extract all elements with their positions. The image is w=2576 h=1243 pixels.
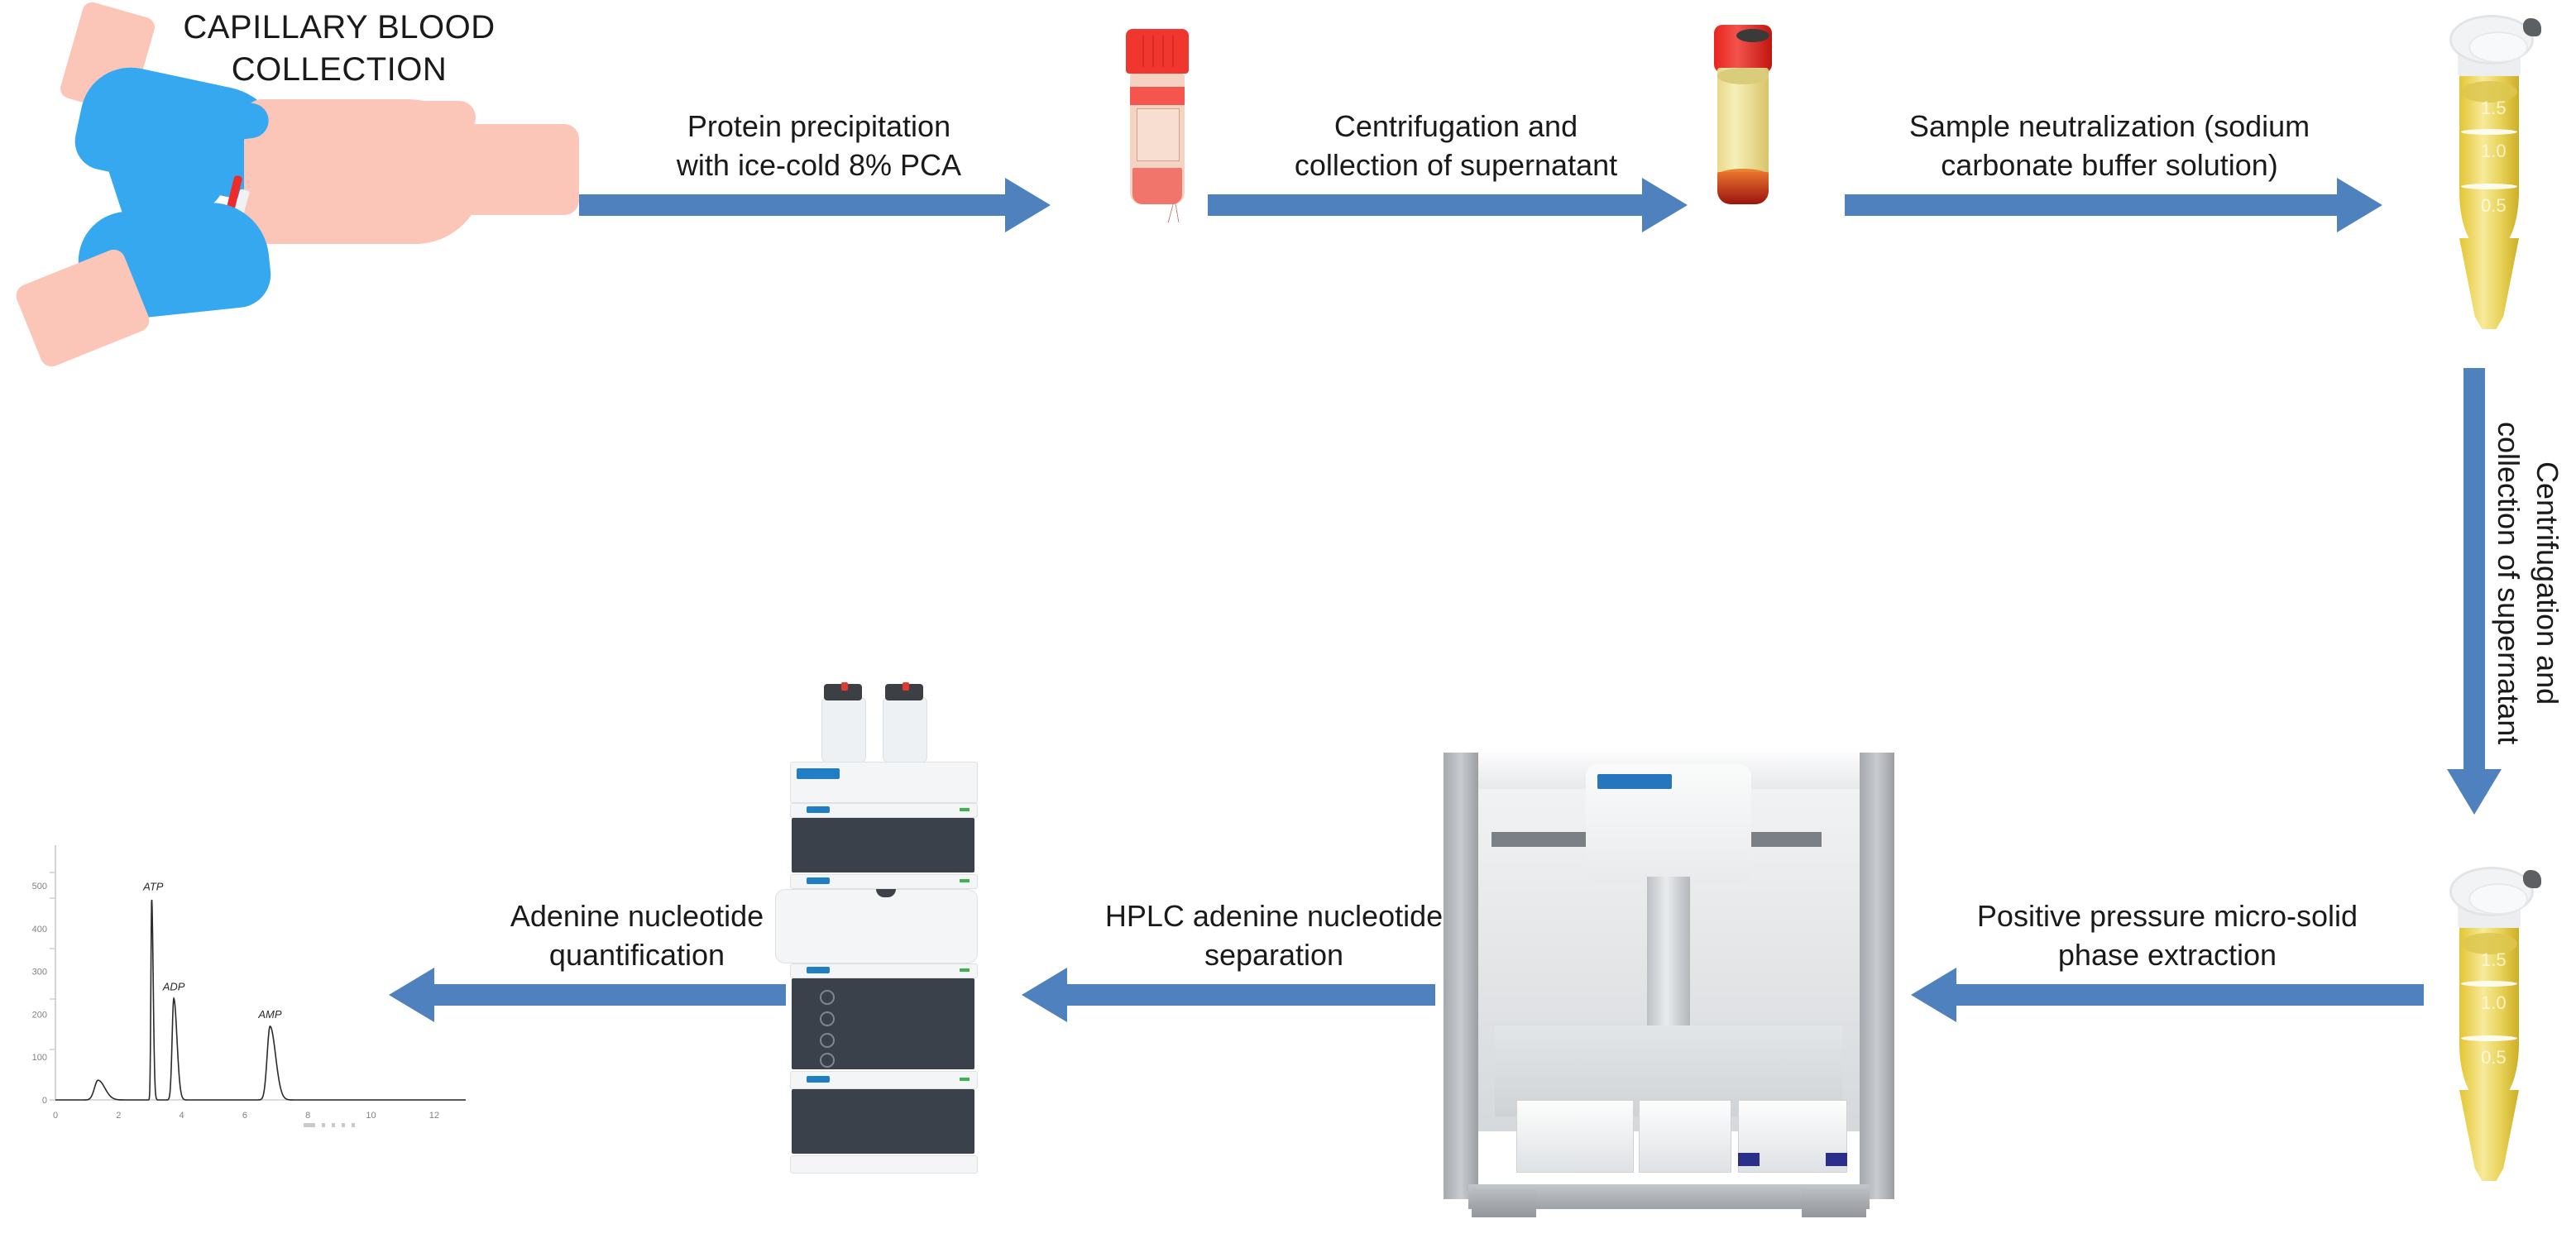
- capillary-blood-collection-illustration: [8, 0, 571, 380]
- tube-lid: [2449, 867, 2534, 916]
- arrow-protein-precipitation: [579, 178, 1051, 232]
- hplc-module-bottom-trim: [790, 1155, 978, 1174]
- step-label-hplc-separation: HPLC adenine nucleotide separation: [1026, 897, 1522, 975]
- svg-text:100: 100: [32, 1053, 47, 1063]
- eppendorf-tube-neutralized: 1.5 1.0 0.5: [2444, 8, 2544, 339]
- graduation-label-05: 0.5: [2481, 1047, 2507, 1069]
- oven-dial-4[interactable]: [820, 1053, 835, 1068]
- svg-text:AMP: AMP: [257, 1008, 282, 1021]
- svg-text:12: 12: [429, 1111, 439, 1121]
- svg-text:2: 2: [116, 1111, 121, 1121]
- graduation-mark-2: [2461, 1035, 2517, 1041]
- solvent-bottle-left: [821, 697, 866, 763]
- tube-cone: [2459, 1090, 2519, 1181]
- eppendorf-tube-supernatant: 1.5 1.0 0.5: [2444, 860, 2544, 1191]
- blood-collection-tube: [1121, 29, 1195, 207]
- sample-plate-center: [1639, 1100, 1731, 1173]
- svg-text:8: 8: [305, 1111, 310, 1121]
- bottle-valve-left: [841, 682, 848, 691]
- tube-cone: [2459, 238, 2519, 329]
- hplc-badge-3: [807, 877, 830, 884]
- svg-text:4: 4: [180, 1111, 184, 1121]
- svg-text:6: 6: [242, 1111, 247, 1121]
- arrow-positive-pressure-spe: [1911, 968, 2424, 1022]
- sample-plate-left: [1516, 1100, 1634, 1173]
- hplc-chromatogram: 0100200300400500 024681012 ATPADPAMP: [12, 835, 476, 1141]
- chromatogram-plot: 0100200300400500 024681012 ATPADPAMP: [12, 835, 476, 1141]
- graduation-label-10: 1.0: [2481, 141, 2507, 162]
- hplc-badge-1: [797, 768, 840, 779]
- oven-dial-2[interactable]: [820, 1011, 835, 1026]
- graduation-label-15: 1.5: [2481, 98, 2507, 119]
- graduation-label-15: 1.5: [2481, 949, 2507, 971]
- graduation-mark-2: [2461, 184, 2517, 189]
- step-label-positive-pressure-spe: Positive pressure micro-solid phase extr…: [1903, 897, 2432, 975]
- step-label-centrifugation-1: Centrifugation and collection of superna…: [1199, 108, 1712, 185]
- instrument-frame-left: [1444, 753, 1478, 1199]
- step-label-sample-neutralization: Sample neutralization (sodium carbonate …: [1820, 108, 2399, 185]
- tube-lid-hinge: [2523, 870, 2541, 888]
- tube-label: [1137, 108, 1180, 161]
- hplc-status-led-3: [960, 968, 970, 972]
- patient-forearm: [438, 124, 579, 215]
- oven-dial-1[interactable]: [820, 990, 835, 1005]
- hplc-module-column-oven: [792, 978, 974, 1069]
- tube-cap: [1126, 29, 1189, 74]
- arrow-sample-neutralization: [1845, 178, 2382, 232]
- patient-finger-4: [371, 208, 449, 240]
- arrow-hplc-separation: [1022, 968, 1435, 1022]
- tube-ring: [1130, 87, 1185, 105]
- bottle-valve-right: [903, 682, 909, 691]
- tube-lid: [2449, 15, 2534, 65]
- arrow-centrifugation-1: [1208, 178, 1688, 232]
- svg-text:ADP: ADP: [162, 980, 185, 992]
- graduation-mark-1: [2461, 129, 2517, 135]
- hplc-status-led-1: [960, 808, 970, 811]
- svg-text:ATP: ATP: [142, 881, 164, 893]
- tube-blood-fluid: [1132, 168, 1182, 204]
- svg-text:0: 0: [53, 1111, 58, 1121]
- solvent-bottle-right: [883, 697, 927, 763]
- tube-lid-hinge: [2523, 18, 2541, 36]
- centrifuged-blood-tube: [1704, 25, 1787, 207]
- instrument-frame-right: [1860, 753, 1894, 1199]
- hplc-module-pump: [792, 818, 974, 872]
- oven-dial-3[interactable]: [820, 1033, 835, 1048]
- instrument-foot-right: [1802, 1189, 1866, 1217]
- svg-text:500: 500: [32, 882, 47, 892]
- instrument-foot-left: [1472, 1189, 1536, 1217]
- svg-text:400: 400: [32, 925, 47, 935]
- svg-text:200: 200: [32, 1010, 47, 1020]
- svg-text:300: 300: [32, 968, 47, 978]
- graduation-label-10: 1.0: [2481, 992, 2507, 1014]
- graduation-label-05: 0.5: [2481, 195, 2507, 217]
- arrow-centrifugation-2: [2447, 368, 2502, 815]
- instrument-brand-badge: [1597, 774, 1672, 789]
- tube-pellet: [1717, 172, 1769, 204]
- hplc-status-led-2: [960, 879, 970, 882]
- hplc-status-led-4: [960, 1078, 970, 1081]
- plate-marker-left: [1738, 1153, 1760, 1166]
- step-label-protein-precipitation: Protein precipitation with ice-cold 8% P…: [571, 108, 1067, 185]
- svg-text:10: 10: [366, 1111, 376, 1121]
- hplc-badge-5: [807, 1076, 830, 1083]
- hplc-module-detector: [792, 1089, 974, 1154]
- graduation-mark-1: [2461, 981, 2517, 987]
- step-label-centrifugation-2: Centrifugation and collection of superna…: [2492, 389, 2566, 777]
- plate-marker-right: [1826, 1153, 1847, 1166]
- hplc-badge-2: [807, 806, 830, 813]
- svg-text:0: 0: [42, 1096, 47, 1106]
- tube-cap: [1714, 25, 1772, 73]
- positive-pressure-spe-instrument: [1444, 753, 1894, 1224]
- tube-meniscus: [1717, 68, 1769, 84]
